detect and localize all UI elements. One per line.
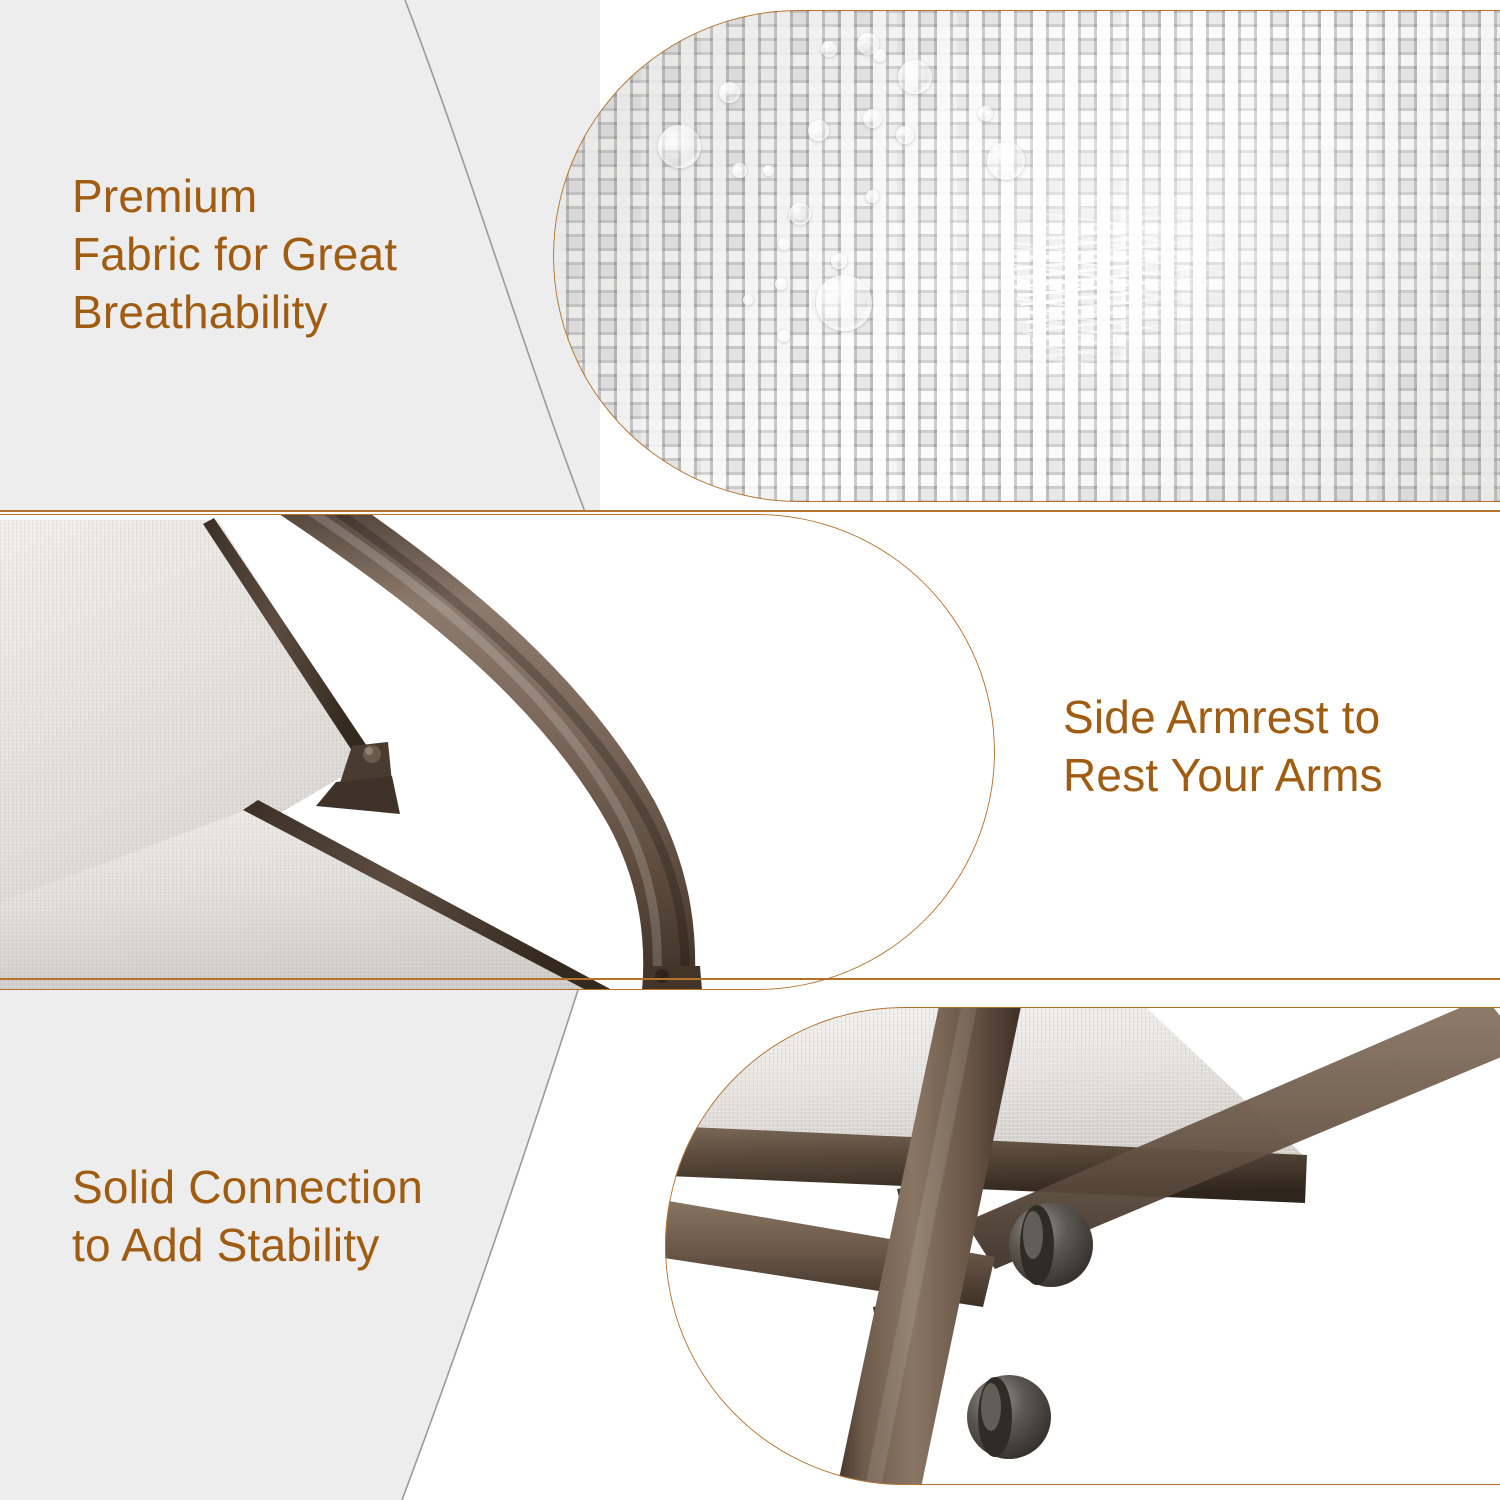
- water-droplet: [896, 126, 914, 144]
- water-droplet: [821, 41, 837, 57]
- water-droplet: [732, 163, 747, 178]
- water-droplet: [789, 203, 811, 225]
- rivet-bolt-upper: [1009, 1203, 1093, 1287]
- feature-section-armrest: Side Armrest to Rest Your Arms: [0, 512, 1500, 990]
- photo-side-armrest: [0, 514, 995, 990]
- water-droplet: [873, 49, 886, 62]
- water-droplet: [743, 295, 753, 305]
- photo-solid-connection: [665, 1007, 1500, 1485]
- feature-section-stability: Solid Connection to Add Stability: [0, 990, 1500, 1500]
- water-droplet-large: [816, 275, 872, 331]
- water-droplet: [719, 82, 740, 103]
- feature-section-fabric: Premium Fabric for Great Breathability: [0, 0, 1500, 512]
- headline-armrest: Side Armrest to Rest Your Arms: [1063, 688, 1483, 804]
- water-droplet: [775, 278, 787, 290]
- water-droplet: [898, 60, 932, 94]
- water-droplet: [778, 330, 790, 342]
- headline-stability: Solid Connection to Add Stability: [72, 1158, 522, 1274]
- headline-fabric: Premium Fabric for Great Breathability: [72, 167, 472, 341]
- armrest-illustration: [0, 514, 995, 990]
- water-droplet: [808, 120, 829, 141]
- rivet-bolt-lower: [967, 1375, 1051, 1459]
- water-droplet: [778, 238, 790, 250]
- water-droplet: [831, 253, 847, 269]
- water-droplet: [658, 125, 701, 168]
- water-droplet: [866, 190, 879, 203]
- water-droplet: [863, 109, 882, 128]
- section-divider-2: [0, 978, 1500, 980]
- joint-illustration: [665, 1007, 1500, 1485]
- product-feature-infographic: Premium Fabric for Great Breathability: [0, 0, 1500, 1500]
- water-droplet: [763, 165, 774, 176]
- water-droplet: [978, 106, 993, 121]
- water-droplet: [987, 142, 1025, 180]
- photo-fabric-water-repellent: [553, 10, 1500, 502]
